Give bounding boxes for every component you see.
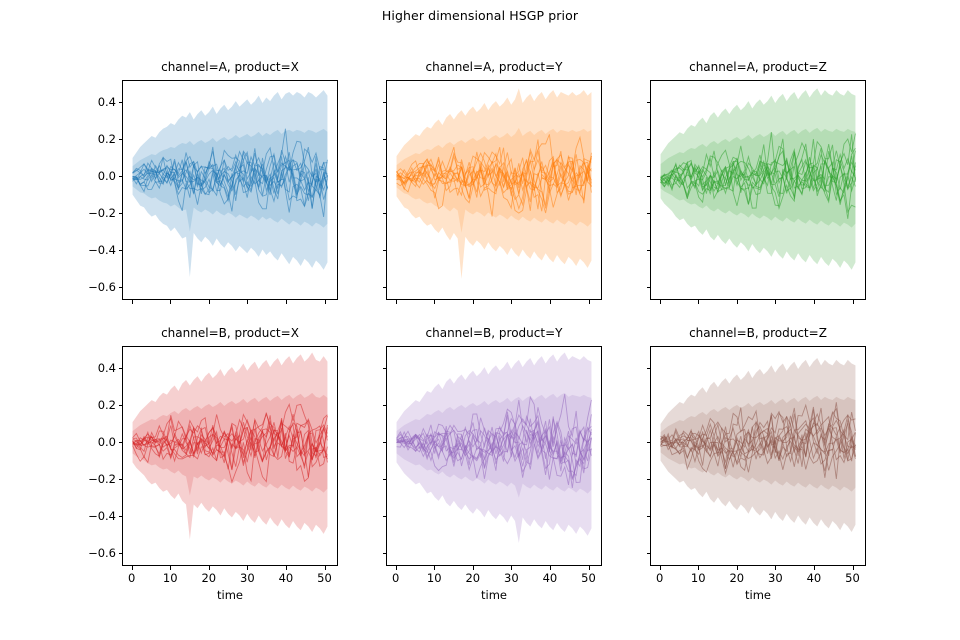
subplot-channel-b-product-x: channel=B, product=X0.40.20.0−0.2−0.4−0.… (122, 346, 338, 566)
subplot-channel-a-product-y: channel=A, product=Y (386, 80, 602, 300)
x-tick-mark (698, 566, 699, 570)
plot-area (386, 80, 602, 300)
x-tick-label: 10 (427, 571, 442, 585)
x-tick-mark (775, 300, 776, 304)
x-tick-mark (511, 300, 512, 304)
y-tick-mark (383, 250, 387, 251)
x-tick-mark (132, 300, 133, 304)
x-tick-mark (814, 300, 815, 304)
x-tick-label: 50 (581, 571, 596, 585)
x-tick-label: 10 (163, 571, 178, 585)
y-tick-mark (383, 213, 387, 214)
x-tick-label: 50 (317, 571, 332, 585)
y-tick-mark (383, 553, 387, 554)
subplot-channel-b-product-y: channel=B, product=Y01020304050time (386, 346, 602, 566)
figure-title: Higher dimensional HSGP prior (0, 8, 960, 23)
y-tick-mark (383, 442, 387, 443)
y-tick-mark (119, 176, 123, 177)
y-tick-mark (119, 442, 123, 443)
x-tick-mark (132, 566, 133, 570)
y-tick-mark (119, 287, 123, 288)
subplot-channel-a-product-x: channel=A, product=X0.40.20.0−0.2−0.4−0.… (122, 80, 338, 300)
x-tick-mark (434, 566, 435, 570)
x-tick-mark (325, 300, 326, 304)
y-tick-label: −0.4 (88, 509, 116, 523)
x-tick-label: 40 (807, 571, 822, 585)
y-tick-label: −0.2 (88, 206, 116, 220)
x-tick-mark (473, 566, 474, 570)
x-tick-mark (473, 300, 474, 304)
x-tick-mark (589, 300, 590, 304)
x-axis-label: time (386, 588, 602, 602)
x-tick-label: 20 (465, 571, 480, 585)
y-tick-mark (119, 553, 123, 554)
x-tick-mark (325, 566, 326, 570)
subplot-title: channel=A, product=Z (650, 60, 866, 74)
y-tick-label: −0.2 (88, 472, 116, 486)
x-tick-mark (775, 566, 776, 570)
x-tick-mark (589, 566, 590, 570)
x-tick-mark (247, 566, 248, 570)
y-tick-mark (647, 213, 651, 214)
y-tick-mark (383, 287, 387, 288)
x-tick-mark (434, 300, 435, 304)
y-tick-label: 0.2 (98, 398, 116, 412)
x-tick-mark (286, 566, 287, 570)
x-tick-label: 0 (656, 571, 663, 585)
y-tick-mark (647, 250, 651, 251)
x-tick-mark (660, 300, 661, 304)
y-tick-mark (119, 479, 123, 480)
x-tick-label: 40 (543, 571, 558, 585)
x-tick-mark (814, 566, 815, 570)
y-tick-label: −0.4 (88, 243, 116, 257)
x-tick-mark (396, 300, 397, 304)
x-tick-mark (737, 300, 738, 304)
subplot-title: channel=A, product=X (122, 60, 338, 74)
x-tick-label: 0 (128, 571, 135, 585)
x-tick-mark (698, 300, 699, 304)
y-tick-mark (647, 405, 651, 406)
x-tick-mark (247, 300, 248, 304)
y-tick-mark (383, 405, 387, 406)
plot-area (122, 80, 338, 300)
x-tick-mark (209, 566, 210, 570)
matplotlib-figure: Higher dimensional HSGP prior channel=A,… (0, 0, 960, 640)
y-tick-mark (119, 250, 123, 251)
x-tick-label: 50 (845, 571, 860, 585)
subplot-channel-a-product-z: channel=A, product=Z (650, 80, 866, 300)
subplot-channel-b-product-z: channel=B, product=Z01020304050time (650, 346, 866, 566)
y-tick-label: 0.2 (98, 132, 116, 146)
x-tick-mark (737, 566, 738, 570)
y-tick-mark (647, 516, 651, 517)
x-tick-mark (170, 300, 171, 304)
y-tick-label: 0.0 (98, 169, 116, 183)
y-tick-mark (383, 479, 387, 480)
x-tick-mark (286, 300, 287, 304)
subplot-title: channel=A, product=Y (386, 60, 602, 74)
y-tick-mark (383, 368, 387, 369)
y-tick-mark (119, 368, 123, 369)
x-tick-mark (853, 566, 854, 570)
x-tick-label: 40 (279, 571, 294, 585)
x-tick-mark (170, 566, 171, 570)
plot-area (650, 80, 866, 300)
y-tick-mark (383, 176, 387, 177)
x-tick-label: 20 (201, 571, 216, 585)
y-tick-label: −0.6 (88, 280, 116, 294)
x-tick-mark (396, 566, 397, 570)
y-tick-mark (647, 139, 651, 140)
y-tick-mark (647, 442, 651, 443)
x-axis-label: time (122, 588, 338, 602)
y-tick-mark (119, 139, 123, 140)
y-tick-mark (647, 368, 651, 369)
y-tick-mark (647, 176, 651, 177)
y-tick-mark (119, 213, 123, 214)
subplot-title: channel=B, product=Y (386, 326, 602, 340)
x-tick-label: 0 (392, 571, 399, 585)
y-tick-mark (647, 102, 651, 103)
subplot-title: channel=B, product=X (122, 326, 338, 340)
y-tick-mark (647, 553, 651, 554)
y-tick-label: 0.4 (98, 95, 116, 109)
x-tick-label: 10 (691, 571, 706, 585)
x-tick-mark (511, 566, 512, 570)
plot-area (650, 346, 866, 566)
x-tick-mark (660, 566, 661, 570)
x-tick-mark (550, 566, 551, 570)
y-tick-mark (383, 102, 387, 103)
subplot-title: channel=B, product=Z (650, 326, 866, 340)
y-tick-label: −0.6 (88, 546, 116, 560)
x-tick-label: 20 (729, 571, 744, 585)
y-tick-mark (647, 479, 651, 480)
x-tick-label: 30 (768, 571, 783, 585)
y-tick-label: 0.0 (98, 435, 116, 449)
x-tick-mark (853, 300, 854, 304)
x-tick-label: 30 (240, 571, 255, 585)
x-tick-label: 30 (504, 571, 519, 585)
x-tick-mark (550, 300, 551, 304)
y-tick-mark (383, 516, 387, 517)
plot-area (386, 346, 602, 566)
y-tick-mark (119, 516, 123, 517)
plot-area (122, 346, 338, 566)
y-tick-mark (119, 405, 123, 406)
x-tick-mark (209, 300, 210, 304)
y-tick-mark (119, 102, 123, 103)
y-tick-label: 0.4 (98, 361, 116, 375)
y-tick-mark (647, 287, 651, 288)
y-tick-mark (383, 139, 387, 140)
x-axis-label: time (650, 588, 866, 602)
